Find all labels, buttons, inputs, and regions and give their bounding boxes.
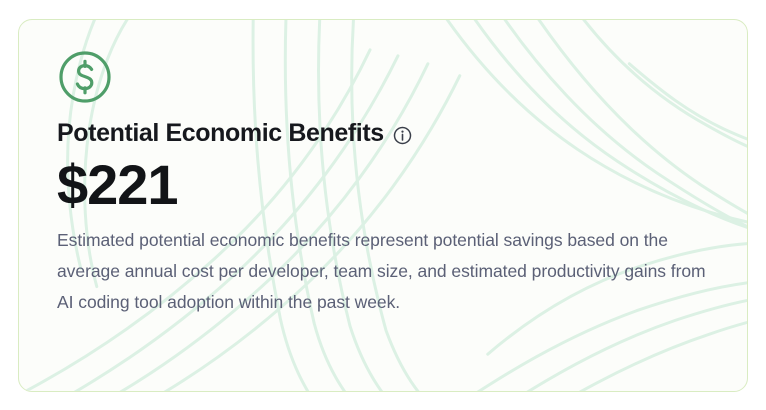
card-title-row: Potential Economic Benefits: [57, 120, 747, 148]
card-title: Potential Economic Benefits: [57, 120, 384, 148]
metric-value: $221: [57, 154, 747, 217]
potential-economic-benefits-card: Potential Economic Benefits $221 Estimat…: [18, 19, 748, 392]
info-icon[interactable]: [393, 126, 412, 145]
card-content: Potential Economic Benefits $221 Estimat…: [19, 20, 747, 318]
dollar-circle-icon: [57, 49, 113, 105]
metric-description: Estimated potential economic benefits re…: [57, 225, 707, 318]
